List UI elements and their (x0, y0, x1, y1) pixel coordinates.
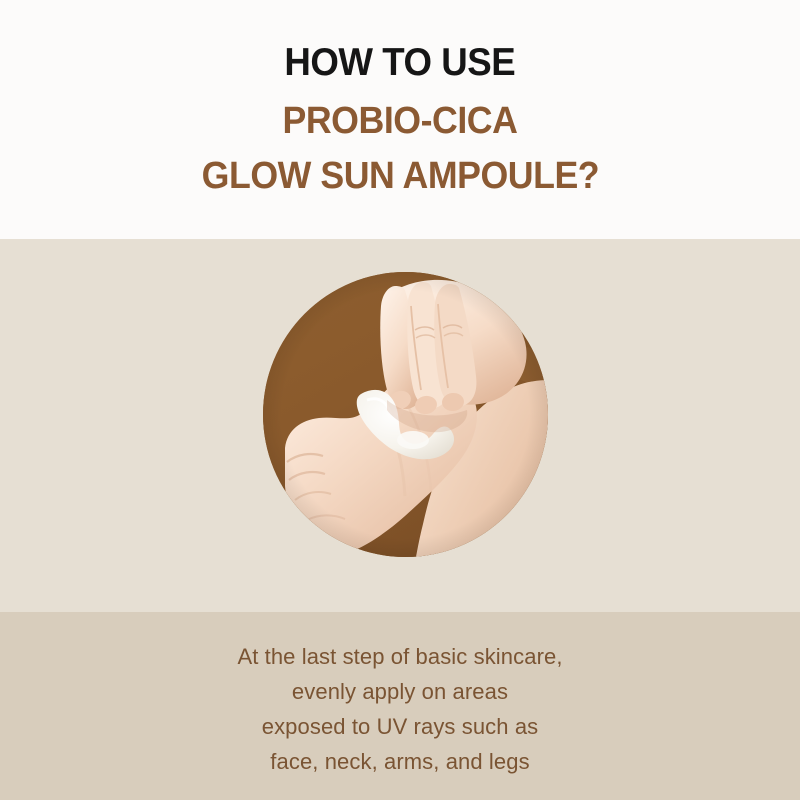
caption-line-2: evenly apply on areas (292, 681, 508, 703)
caption-line-1: At the last step of basic skincare, (237, 646, 562, 668)
caption-line-4: face, neck, arms, and legs (270, 751, 529, 773)
heading-line-product-name: PROBIO-CICA (283, 101, 518, 142)
caption-band: At the last step of basic skincare, even… (0, 612, 800, 800)
image-band (0, 239, 800, 612)
caption-line-3: exposed to UV rays such as (262, 716, 539, 738)
product-howto-page: HOW TO USE PROBIO-CICA GLOW SUN AMPOULE? (0, 0, 800, 800)
hand-applying-cream-photo (263, 272, 548, 557)
hand-cream-illustration (263, 272, 548, 557)
heading-band: HOW TO USE PROBIO-CICA GLOW SUN AMPOULE? (0, 0, 800, 239)
heading-line-how-to-use: HOW TO USE (285, 42, 516, 84)
heading-line-product-subtitle: GLOW SUN AMPOULE? (201, 156, 598, 197)
